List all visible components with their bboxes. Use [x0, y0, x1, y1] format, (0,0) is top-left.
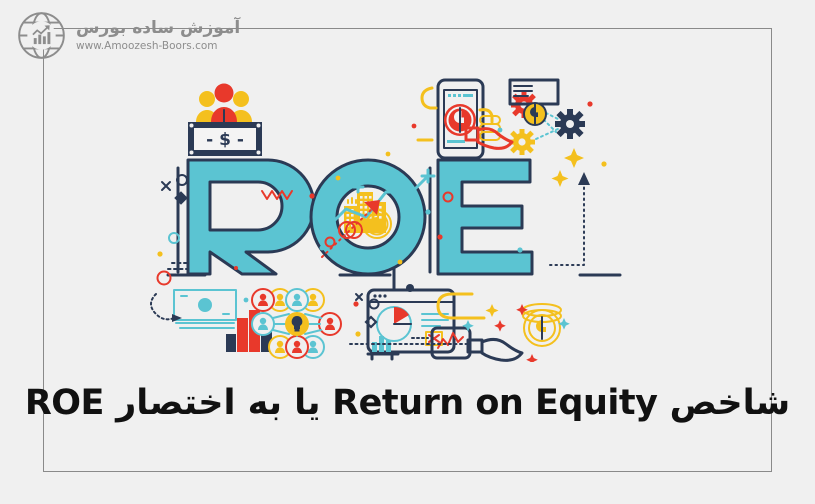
pie-chart-icon — [377, 307, 411, 341]
site-logo[interactable]: آموزش ساده بورس www.Amoozesh-Boors.com — [14, 8, 240, 63]
article-title-bar: شاخص Return on Equity یا به اختصار ROE — [44, 372, 771, 434]
banknote-icon: - $ - — [188, 122, 262, 156]
page-canvas: آموزش ساده بورس www.Amoozesh-Boors.com .… — [0, 0, 815, 504]
yellow-bracket-icon — [418, 88, 436, 140]
sparkle-icon — [552, 148, 585, 187]
roe-illustration: .tl{fill:#5bc4d2} .nv{fill:#2b3a55} .ylw… — [150, 72, 650, 362]
up-arrow-dotted-icon — [550, 172, 590, 265]
smartphone-payment-icon — [438, 80, 483, 158]
logo-website-text: www.Amoozesh-Boors.com — [76, 41, 240, 52]
logo-brand-text: آموزش ساده بورس — [76, 20, 240, 37]
money-stack-icon — [151, 290, 236, 328]
lightbulb-icon — [285, 312, 309, 336]
letter-o-icon — [311, 160, 425, 274]
gear-navy-icon — [555, 109, 585, 139]
people-group-icon — [196, 84, 252, 123]
mini-bar-icon — [368, 336, 398, 359]
letter-e-icon — [430, 160, 532, 274]
globe-chart-icon — [14, 8, 69, 63]
letter-r-icon — [178, 160, 314, 274]
svg-text:- $ -: - $ - — [206, 130, 244, 150]
page-title: شاخص Return on Equity یا به اختصار ROE — [25, 383, 790, 423]
